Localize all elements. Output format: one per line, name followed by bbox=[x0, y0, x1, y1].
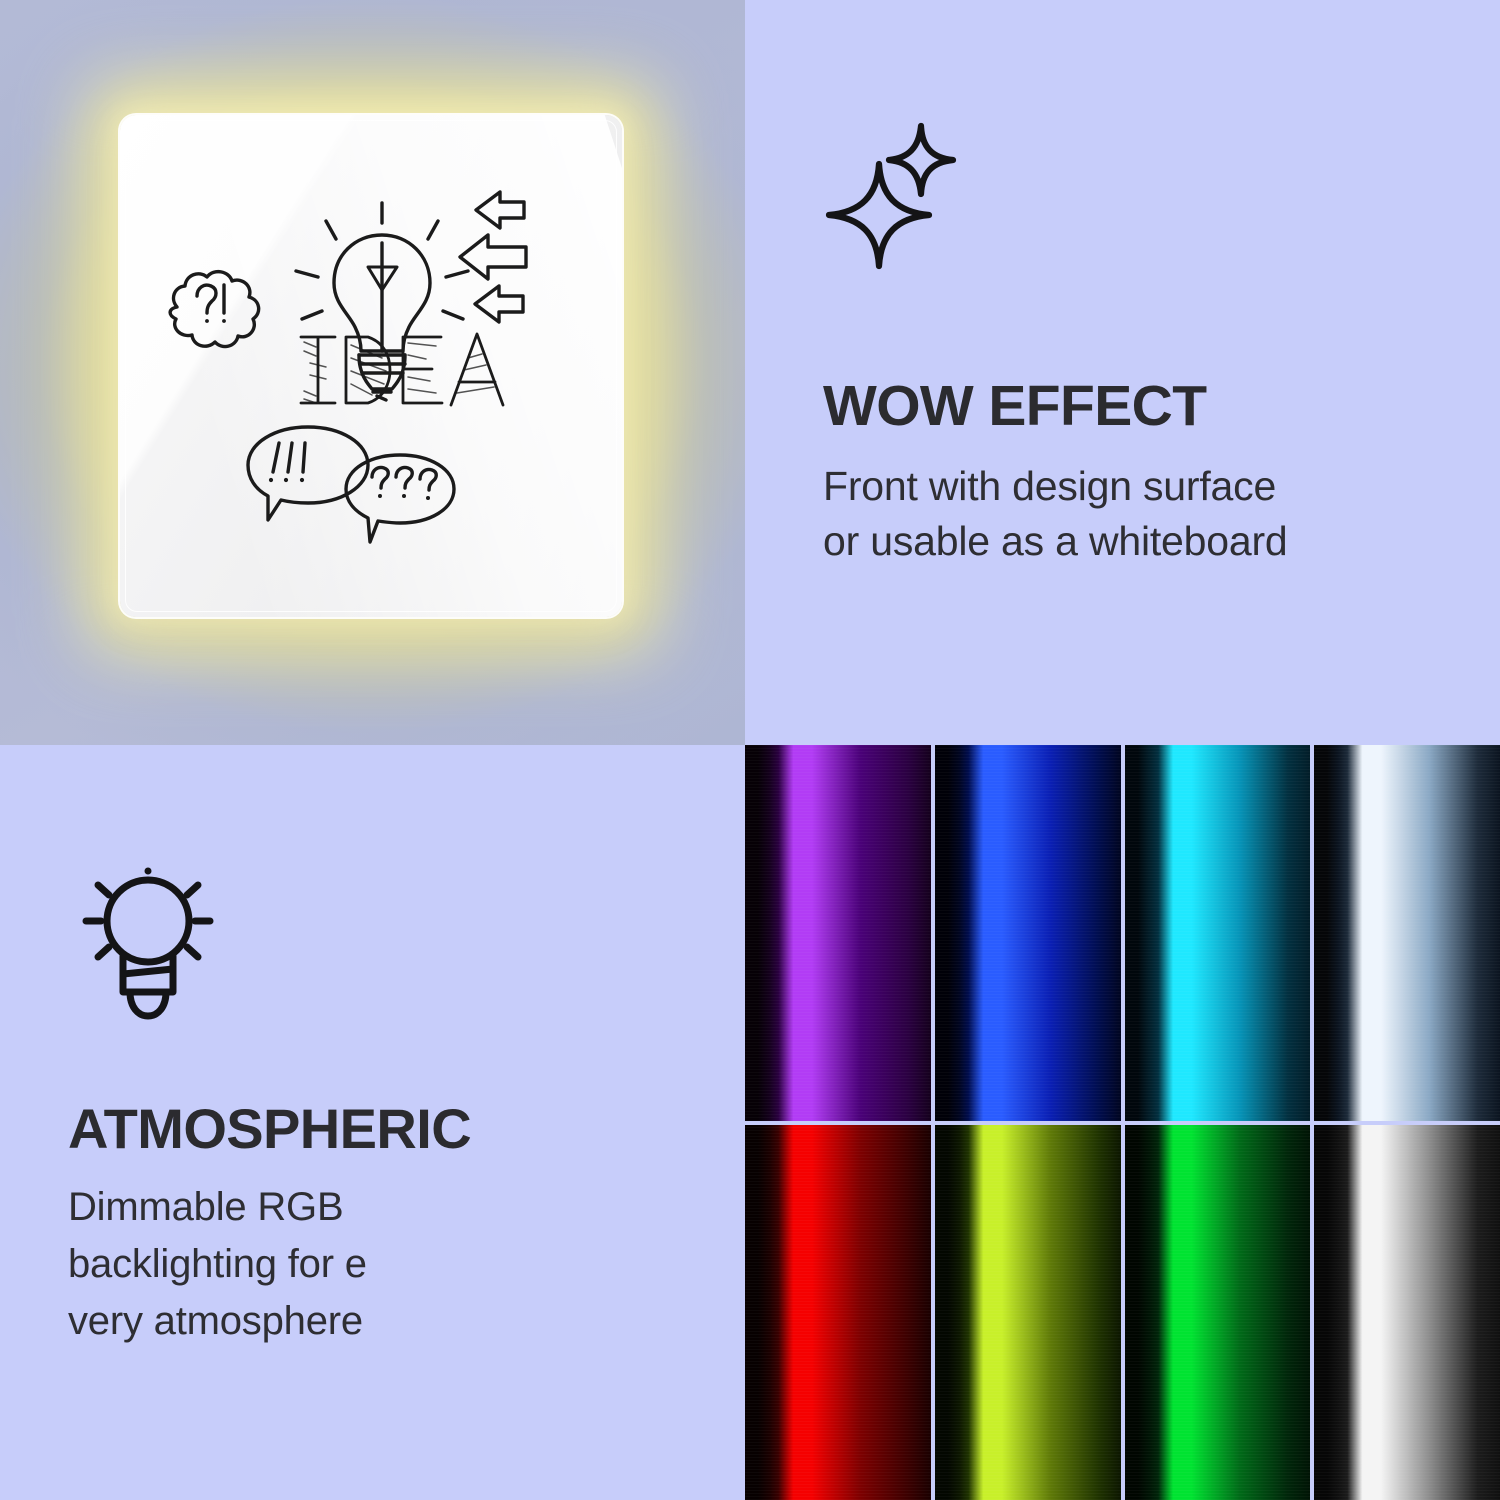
light-switch-device[interactable] bbox=[120, 115, 622, 617]
arrows-left-icon bbox=[460, 192, 526, 322]
sparkle-icon bbox=[823, 118, 963, 270]
swatch-gradient bbox=[1314, 1125, 1500, 1500]
color-swatch-cool-white[interactable] bbox=[1314, 745, 1500, 1121]
product-photo-panel bbox=[0, 0, 745, 745]
idea-word bbox=[301, 334, 503, 405]
swatch-gradient bbox=[1314, 745, 1500, 1121]
color-swatch-violet[interactable] bbox=[745, 745, 931, 1121]
lightbulb-icon bbox=[68, 857, 228, 1023]
feature-grid-page: WOW EFFECT Front with design surface or … bbox=[0, 0, 1500, 1500]
rgb-color-grid bbox=[745, 745, 1500, 1500]
speech-bubble-icon bbox=[248, 427, 454, 542]
swatch-gradient bbox=[935, 745, 1121, 1121]
color-swatch-blue[interactable] bbox=[935, 745, 1121, 1121]
color-swatch-lime[interactable] bbox=[935, 1125, 1121, 1500]
swatch-gradient bbox=[1125, 1125, 1311, 1500]
thought-cloud-icon bbox=[170, 272, 259, 347]
swatch-gradient bbox=[745, 1125, 931, 1500]
feature-title: WOW EFFECT bbox=[823, 378, 1500, 435]
feature-wow-effect: WOW EFFECT Front with design surface or … bbox=[745, 0, 1500, 745]
color-swatch-green[interactable] bbox=[1125, 1125, 1311, 1500]
feature-atmospheric: ATMOSPHERIC Dimmable RGB backlighting fo… bbox=[0, 745, 745, 1500]
feature-description: Dimmable RGB backlighting for e very atm… bbox=[68, 1179, 745, 1349]
color-swatch-white[interactable] bbox=[1314, 1125, 1500, 1500]
color-swatch-red[interactable] bbox=[745, 1125, 931, 1500]
swatch-gradient bbox=[1125, 745, 1311, 1121]
feature-title: ATMOSPHERIC bbox=[68, 1101, 745, 1157]
swatch-gradient bbox=[745, 745, 931, 1121]
swatch-gradient bbox=[935, 1125, 1121, 1500]
lightbulb-doodle-icon bbox=[296, 203, 468, 400]
whiteboard-doodles bbox=[120, 115, 622, 617]
feature-description: Front with design surface or usable as a… bbox=[823, 459, 1500, 568]
color-swatch-cyan[interactable] bbox=[1125, 745, 1311, 1121]
